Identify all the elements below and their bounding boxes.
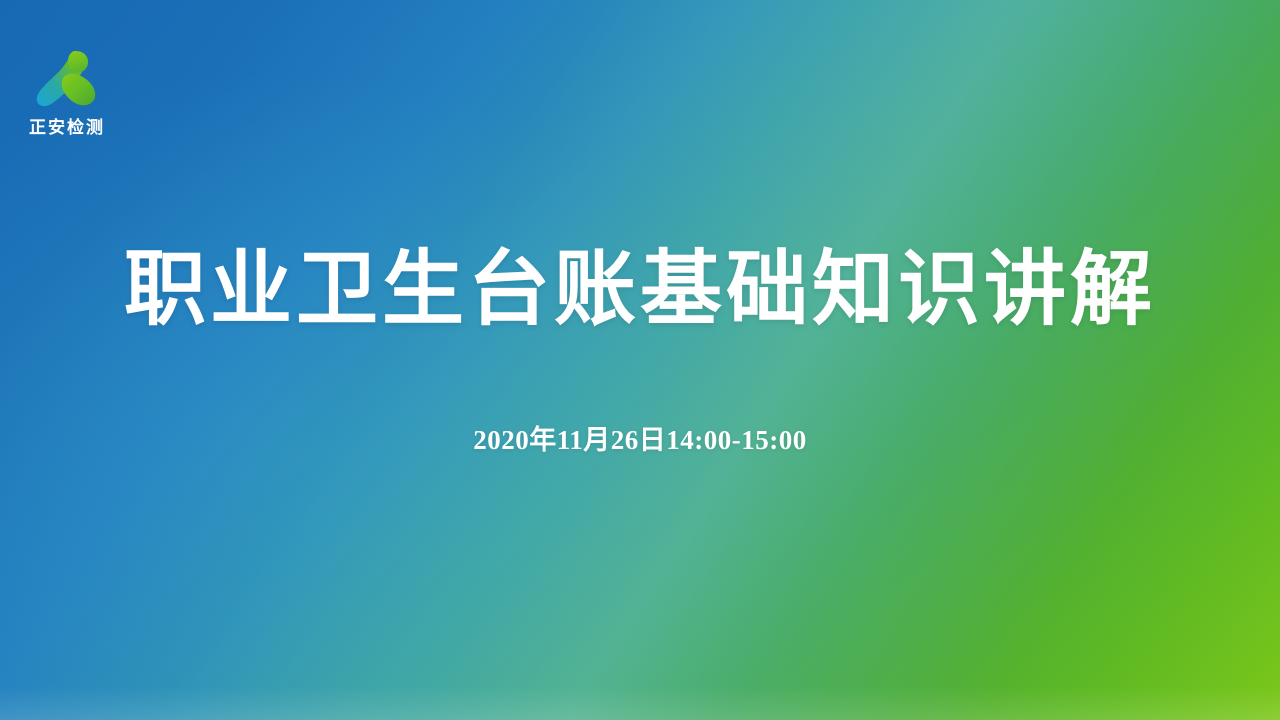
page-title: 职业卫生台账基础知识讲解 xyxy=(0,244,1280,336)
background-bottom-highlight xyxy=(0,686,1280,720)
background-diagonal-streak xyxy=(0,0,1280,720)
abstract-person-swoosh-icon xyxy=(28,42,106,116)
title-block: 职业卫生台账基础知识讲解 xyxy=(0,244,1280,336)
presentation-title-slide: 正安检测 职业卫生台账基础知识讲解 2020年11月26日14:00-15:00 xyxy=(0,0,1280,720)
company-name-label: 正安检测 xyxy=(12,119,122,138)
session-datetime: 2020年11月26日14:00-15:00 xyxy=(0,418,1280,457)
company-logo: 正安检测 xyxy=(12,42,122,150)
background-teal-wash xyxy=(0,0,1280,720)
